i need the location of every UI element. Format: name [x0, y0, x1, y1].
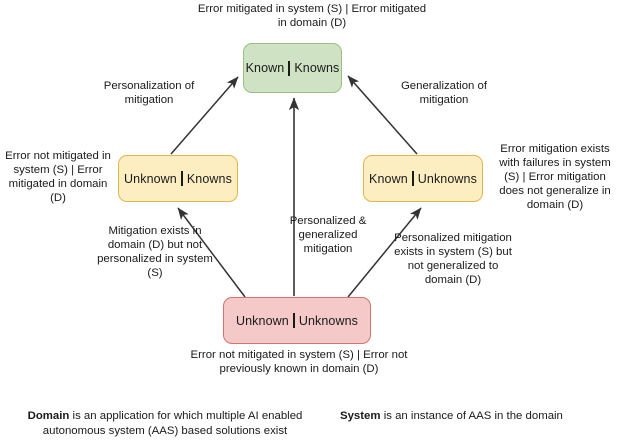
footnote-system-text: is an instance of AAS in the domain: [381, 410, 563, 422]
node-known-knowns-right-word: Knowns: [294, 61, 339, 75]
node-unknown-knowns-left-word: Unknown: [124, 172, 177, 186]
node-unknown-unknowns-right-word: Unknowns: [299, 314, 358, 328]
node-unknown-unknowns-separator: [293, 313, 295, 328]
caption-known-knowns: Error mitigated in system (S) | Error mi…: [192, 2, 432, 30]
node-known-knowns-left-word: Known: [246, 61, 285, 75]
edge-label-mitigation-exists-in-domain: Mitigation exists in domain (D) but not …: [96, 224, 214, 280]
node-unknown-knowns-separator: [181, 171, 183, 186]
diagram-canvas: Known Knowns Unknown Knowns Known Unknow…: [0, 0, 620, 444]
footnote-domain-text: is an application for which multiple AI …: [43, 410, 303, 437]
node-unknown-knowns-right-word: Knowns: [187, 172, 232, 186]
edge-label-generalization-of-mitigation: Generalization of mitigation: [388, 79, 500, 107]
node-known-knowns-separator: [288, 61, 290, 76]
caption-known-unknowns: Error mitigation exists with failures in…: [492, 142, 618, 212]
node-known-unknowns-label: Known Unknowns: [369, 171, 477, 186]
node-known-unknowns[interactable]: Known Unknowns: [363, 155, 483, 202]
node-known-knowns[interactable]: Known Knowns: [243, 43, 342, 93]
footnote-system-term: System: [340, 410, 381, 422]
caption-unknown-unknowns: Error not mitigated in system (S) | Erro…: [180, 348, 418, 376]
edge-label-personalized-mitigation-exists-in-system: Personalized mitigation exists in system…: [394, 231, 512, 287]
node-unknown-knowns[interactable]: Unknown Knowns: [118, 155, 238, 202]
edge-label-personalized-and-generalized-mitigation: Personalized & generalized mitigation: [275, 214, 381, 256]
node-unknown-unknowns[interactable]: Unknown Unknowns: [223, 297, 371, 344]
node-unknown-unknowns-label: Unknown Unknowns: [236, 313, 358, 328]
node-known-unknowns-separator: [412, 171, 414, 186]
node-known-knowns-label: Known Knowns: [246, 61, 340, 76]
node-unknown-knowns-label: Unknown Knowns: [124, 171, 232, 186]
footnote-system-definition: System is an instance of AAS in the doma…: [332, 409, 620, 424]
edge-label-personalization-of-mitigation: Personalization of mitigation: [94, 79, 204, 107]
footnote-domain-term: Domain: [28, 410, 70, 422]
footnote-domain-definition: Domain is an application for which multi…: [0, 409, 330, 438]
caption-unknown-knowns: Error not mitigated in system (S) | Erro…: [2, 149, 114, 205]
node-unknown-unknowns-left-word: Unknown: [236, 314, 289, 328]
node-known-unknowns-right-word: Unknowns: [418, 172, 477, 186]
node-known-unknowns-left-word: Known: [369, 172, 408, 186]
